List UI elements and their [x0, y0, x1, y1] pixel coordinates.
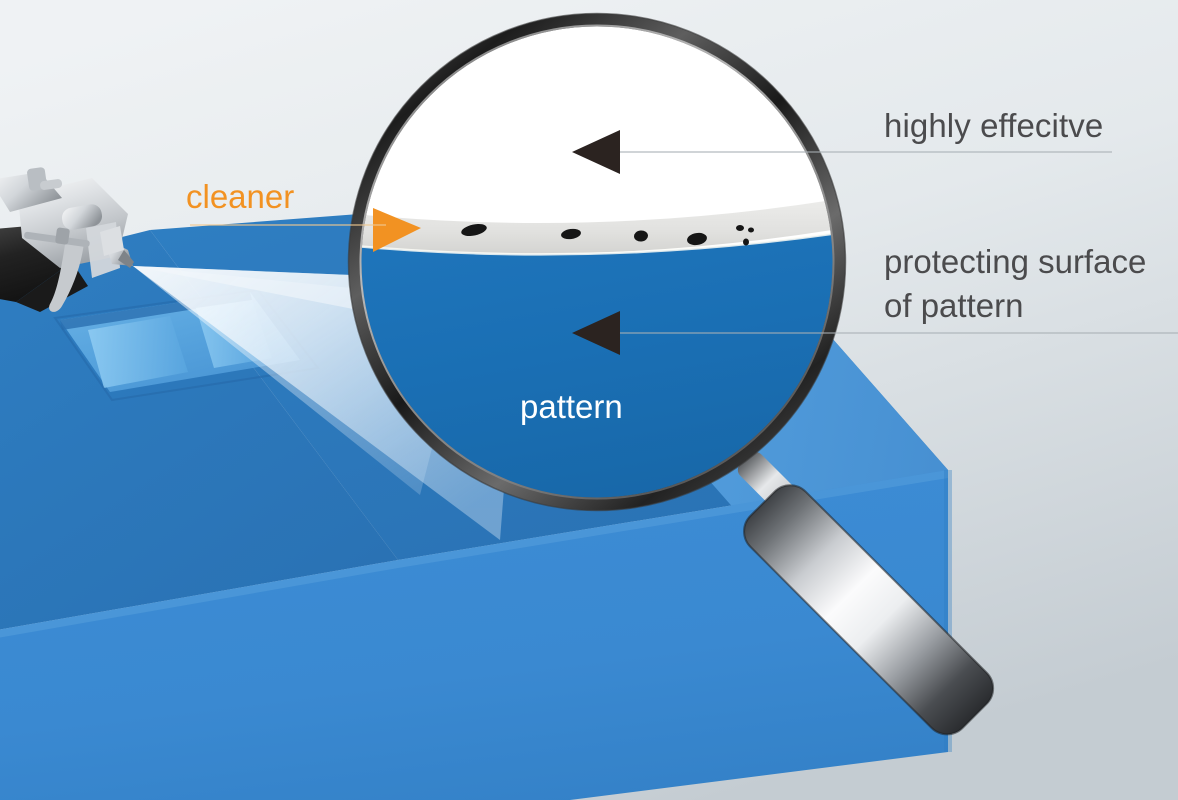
- dirt-particle: [743, 239, 749, 246]
- gun-rod-nut: [55, 227, 70, 245]
- dirt-particle: [748, 228, 754, 233]
- label-pattern: pattern: [520, 388, 623, 426]
- label-protecting-line2: of pattern: [884, 284, 1146, 328]
- label-protecting-line1: protecting surface: [884, 243, 1146, 280]
- label-protecting-surface: protecting surface of pattern: [884, 240, 1146, 328]
- label-highly-effective: highly effecitve: [884, 107, 1103, 145]
- dirt-particle: [736, 225, 744, 231]
- illustration-canvas: highly effecitve protecting surface of p…: [0, 0, 1178, 800]
- label-cleaner: cleaner: [186, 178, 294, 216]
